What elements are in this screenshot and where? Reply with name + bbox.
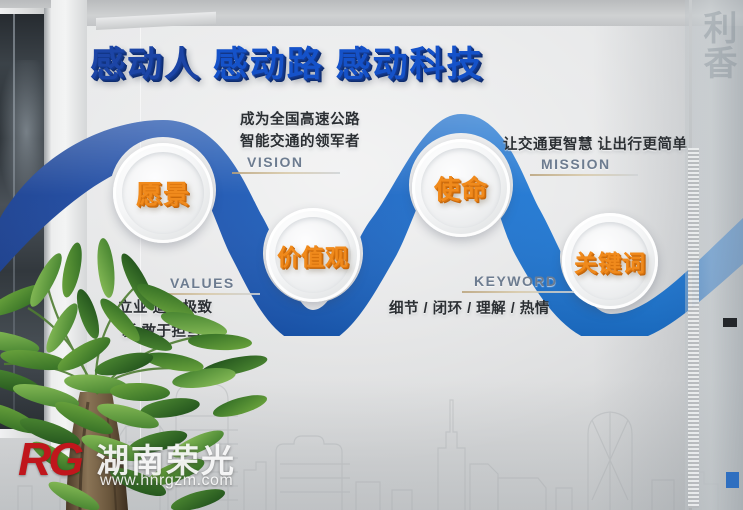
vision-en-label: VISION [247,154,303,170]
watermark-logo: RG [18,432,81,486]
glass-blue-tag [726,472,739,488]
vision-line-2: 智能交通的领军者 [240,130,360,151]
mission-en-label: MISSION [541,156,611,172]
circle-mission-label: 使命 [412,170,510,207]
mission-rule [530,174,638,176]
circle-keyword[interactable]: 关键词 [562,213,658,309]
title-segment-1: 感动人 [90,45,201,84]
glass-dark-tag [723,318,737,327]
title-segment-2: 感动路 [213,45,324,84]
circle-vision-label: 愿景 [113,175,213,212]
page-title: 感动人 感动路 感动科技 [90,36,484,87]
window-blind[interactable] [688,148,699,508]
keyword-en-label: KEYWORD [474,273,558,289]
keyword-rule [462,291,574,293]
mission-line-1: 让交通更智慧 让出行更简单 [503,133,688,154]
photo-scene: 愿景 价值观 使命 关键词 感动人 感动路 感动科技 成为全国高速公路 智能交通… [0,0,743,510]
watermark: RG 湖南荣光 www.hnrgzm.com [18,428,248,492]
vision-line-1: 成为全国高速公路 [240,108,360,129]
title-segment-3: 感动科技 [336,45,484,84]
circle-values[interactable]: 价值观 [266,208,360,302]
keyword-line-1: 细节 / 闭环 / 理解 / 热情 [389,297,550,318]
circle-mission[interactable]: 使命 [412,139,510,237]
circle-values-label: 价值观 [266,238,360,272]
circle-keyword-label: 关键词 [562,244,658,278]
watermark-url: www.hnrgzm.com [100,472,233,490]
vision-rule [232,172,340,174]
glass-ghost-text: 利香 [689,10,741,80]
